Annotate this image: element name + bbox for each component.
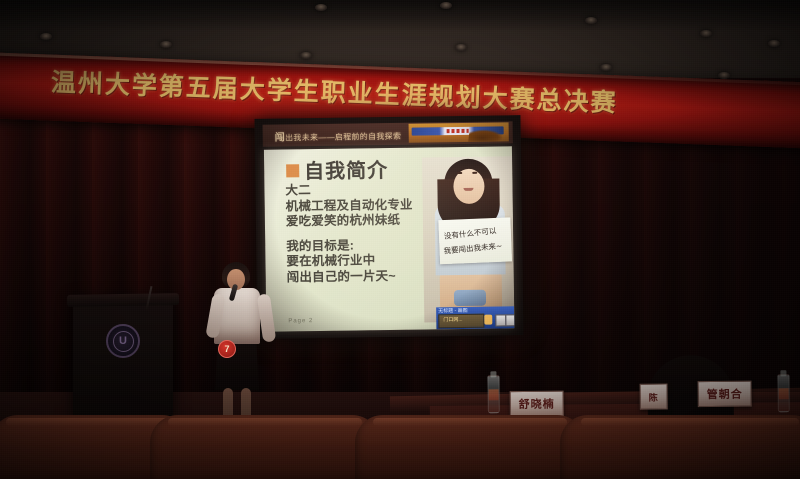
photo-subject-shorts — [454, 290, 486, 306]
ceiling-downlight — [585, 17, 597, 24]
slide-title: 自我简介 — [304, 154, 388, 184]
photo-subject-eye-right — [472, 172, 477, 174]
slide-line-1: 机械工程及自动化专业 — [286, 197, 426, 214]
ceiling-downlight — [40, 33, 52, 40]
powerpoint-slide: 自我简介 大二 机械工程及自动化专业 爱吃爱笑的杭州妹纸 我的目标是: 要在机械… — [264, 146, 515, 331]
browser-ad-horse-graphic — [468, 129, 504, 142]
browser-banner-ad — [409, 122, 509, 142]
chair-highlight — [373, 418, 566, 426]
audience-chair — [355, 415, 585, 479]
lectern-top — [67, 293, 179, 307]
taskbar-button-label: 门口网... — [443, 316, 462, 323]
judge-namecard: 管朝合 — [698, 381, 752, 408]
presenter-contestant-badge: 7 — [218, 340, 236, 358]
handwritten-sign: 没有什么不可以 我要闯出我未来~ — [438, 217, 512, 264]
sign-line-2: 我要闯出我未来~ — [443, 240, 503, 256]
projection-screen: 闯出我未来——启程前的自我探索 自我简介 大二 机械工程及自动化专业 爱吃爱笑的… — [254, 115, 523, 339]
ceiling-downlight — [455, 44, 467, 51]
university-crest-letter: U — [113, 331, 134, 352]
taskbar-tray-hand-icon[interactable] — [484, 315, 492, 325]
slide-goal-line-2: 闯出自己的一片天~ — [287, 268, 427, 285]
ceiling-downlight — [315, 4, 327, 11]
chair-highlight — [6, 418, 174, 426]
lectern: U — [73, 300, 173, 420]
slide-title-bullet-icon — [286, 164, 299, 177]
ceiling-downlight — [440, 2, 452, 9]
chair-highlight — [581, 418, 799, 426]
audience-chair — [150, 415, 380, 479]
audience-chair — [560, 415, 800, 479]
water-bottle-label — [779, 388, 789, 399]
ceiling-downlight — [160, 41, 172, 48]
ceiling-downlight — [700, 30, 712, 37]
ceiling-downlight — [718, 72, 730, 79]
presentation-header-bar: 闯出我未来——启程前的自我探索 — [263, 121, 513, 146]
judge-namecard: 陈 — [640, 383, 668, 409]
water-bottle — [487, 375, 499, 413]
taskbar-tray-icon-2[interactable] — [505, 314, 514, 326]
slide-photo: 没有什么不可以 我要闯出我未来~ — [422, 156, 514, 322]
water-bottle — [777, 374, 789, 412]
windows-taskbar[interactable]: 无标题 - 画图 门口网... — [436, 306, 514, 329]
chair-highlight — [168, 418, 361, 426]
sign-line-1: 没有什么不可以 — [443, 225, 496, 242]
ceiling-downlight — [300, 52, 312, 59]
photo-subject-eye-left — [457, 172, 462, 174]
university-crest-icon: U — [106, 324, 140, 358]
judge-namecard: 舒晓楠 — [510, 391, 564, 418]
ceiling-downlight — [600, 64, 612, 71]
ceiling-downlight — [768, 40, 780, 47]
water-bottle-label — [489, 389, 499, 400]
photo-scene: 温州大学第五届大学生职业生涯规划大赛总决赛 闯出我未来——启程前的自我探索 自我… — [0, 0, 800, 479]
presentation-header-rest: 出我未来——启程前的自我探索 — [285, 132, 401, 143]
slide-body-text: 大二 机械工程及自动化专业 爱吃爱笑的杭州妹纸 我的目标是: 要在机械行业中 闯… — [285, 181, 426, 285]
presentation-header-text: 闯出我未来——启程前的自我探索 — [275, 127, 402, 144]
presentation-header-first-char: 闯 — [275, 132, 285, 143]
slide-page-number: Page 2 — [288, 318, 313, 324]
taskbar-button[interactable]: 门口网... — [438, 314, 484, 329]
